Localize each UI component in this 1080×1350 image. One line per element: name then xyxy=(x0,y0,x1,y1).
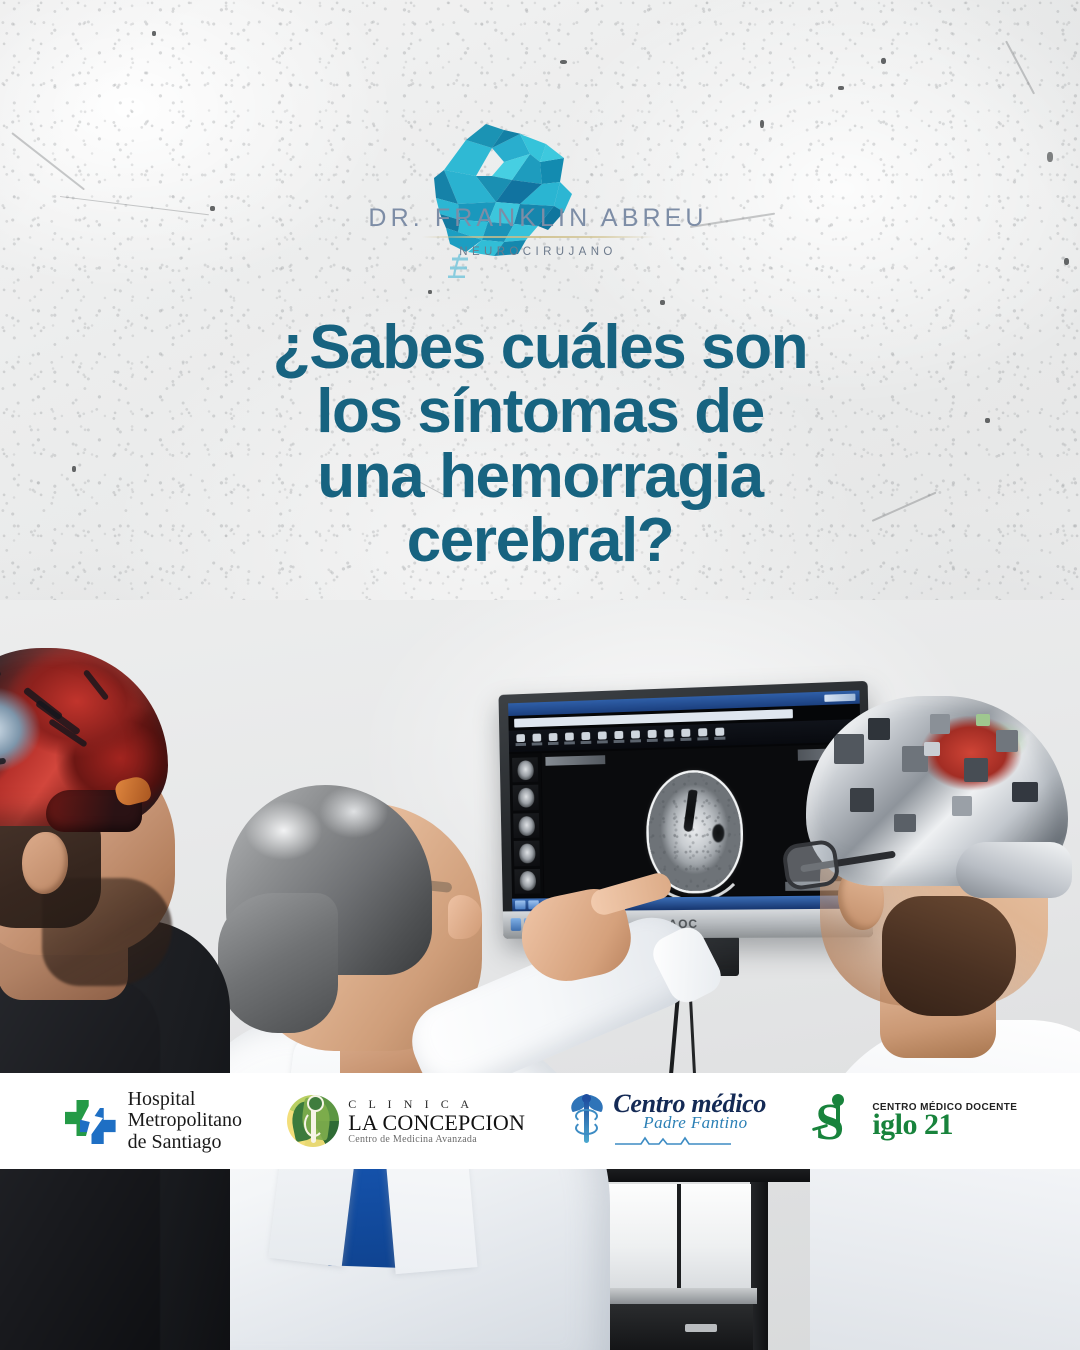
brand-name-text: DR. FRANKLIN ABREU xyxy=(368,204,707,233)
tool-icon[interactable] xyxy=(713,727,725,742)
headline-line-1: ¿Sabes cuáles son xyxy=(60,316,1020,380)
glasses-lens xyxy=(781,838,841,891)
tool-icon[interactable] xyxy=(612,730,624,745)
logo-centro-medico-docente-siglo-21: S CENTRO MÉDICO DOCENTE iglo 21 xyxy=(811,1096,1017,1146)
double-cross-swoosh-icon xyxy=(63,1094,119,1148)
logo-hms-text: Hospital Metropolitano de Santiago xyxy=(128,1089,242,1153)
ct-thumbnail[interactable] xyxy=(512,757,538,783)
tool-icon[interactable] xyxy=(629,730,641,745)
logo-clc-line2: LA CONCEPCION xyxy=(348,1112,525,1134)
brand-logo-block: DR. FRANKLIN ABREU NEUROCIRUJANO xyxy=(0,118,1080,278)
logo-s21-line2: iglo 21 xyxy=(872,1111,1017,1140)
tool-icon[interactable] xyxy=(563,732,575,747)
tool-icon[interactable] xyxy=(579,731,591,746)
headline-line-3: una hemorragia xyxy=(60,445,1020,509)
logo-centro-medico-padre-fantino: Centro médico Padre Fantino xyxy=(570,1091,766,1151)
tool-icon[interactable] xyxy=(547,732,559,747)
brand-subtitle-text: NEUROCIRUJANO xyxy=(459,246,617,258)
page-title: ¿Sabes cuáles son los síntomas de una he… xyxy=(60,316,1020,574)
headline-line-2: los síntomas de xyxy=(60,380,1020,444)
tool-icon[interactable] xyxy=(596,731,608,746)
person-left xyxy=(0,620,230,1350)
brain-spine-logo: DR. FRANKLIN ABREU NEUROCIRUJANO xyxy=(388,118,688,278)
tool-icon[interactable] xyxy=(646,729,658,744)
brand-divider-rule xyxy=(422,236,654,238)
tool-icon[interactable] xyxy=(662,729,674,744)
tool-icon[interactable] xyxy=(696,728,708,743)
logo-clinica-la-concepcion: C L I N I C A LA CONCEPCION Centro de Me… xyxy=(287,1095,525,1147)
social-post-poster: DR. FRANKLIN ABREU NEUROCIRUJANO ¿Sabes … xyxy=(0,0,1080,1350)
caduceus-ekg-icon xyxy=(570,1095,604,1147)
logo-clc-line3: Centro de Medicina Avanzada xyxy=(348,1134,525,1145)
tool-icon[interactable] xyxy=(514,734,526,749)
tool-icon[interactable] xyxy=(531,733,543,748)
green-s-caduceus-icon: S xyxy=(811,1096,863,1146)
photo-scene: AOC xyxy=(0,600,1080,1350)
tool-icon[interactable] xyxy=(679,728,691,743)
leaf-circle-caduceus-icon xyxy=(287,1095,339,1147)
person-right xyxy=(790,690,1080,1350)
study-info-overlay xyxy=(545,755,605,766)
ekg-line-icon xyxy=(615,1136,733,1146)
doctor-pointing xyxy=(190,785,630,1350)
headline-line-4: cerebral? xyxy=(60,509,1020,573)
partner-logo-band: Hospital Metropolitano de Santiago C L I… xyxy=(0,1073,1080,1169)
logo-hospital-metropolitano-de-santiago: Hospital Metropolitano de Santiago xyxy=(63,1089,242,1153)
